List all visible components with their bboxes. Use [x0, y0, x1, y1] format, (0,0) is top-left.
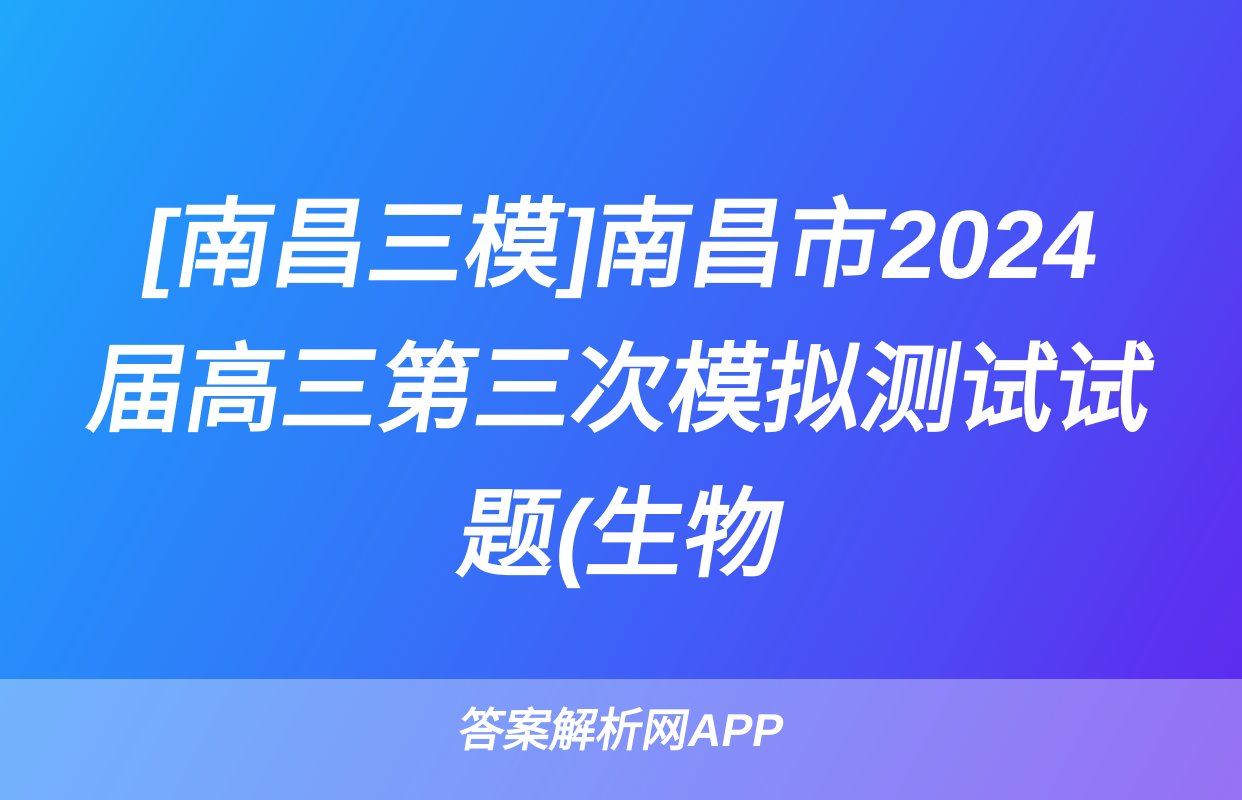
title-line-3: 题(生物	[41, 462, 1202, 607]
watermark-label: 答案解析网APP	[454, 702, 788, 758]
title-line-2: 届高三第三次模拟测试试	[41, 317, 1202, 462]
poster-canvas: [南昌三模]南昌市2024 届高三第三次模拟测试试 题(生物 答案解析网APP	[0, 0, 1242, 800]
page-title: [南昌三模]南昌市2024 届高三第三次模拟测试试 题(生物	[0, 172, 1242, 607]
watermark: 答案解析网APP	[0, 702, 1242, 758]
title-line-1: [南昌三模]南昌市2024	[41, 172, 1202, 317]
